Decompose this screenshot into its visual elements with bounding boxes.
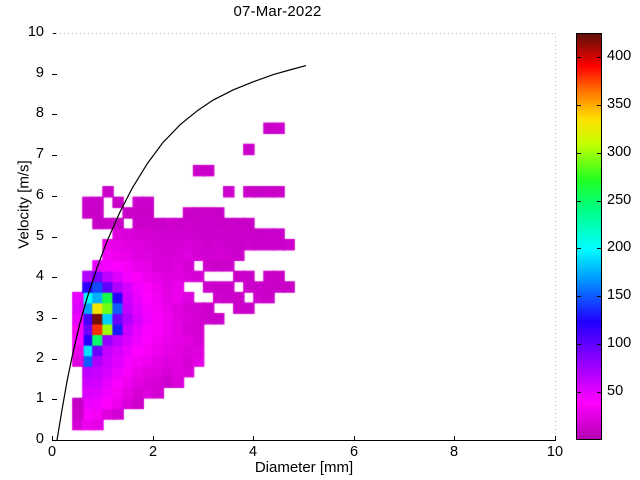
y-axis-label: Velocity [m/s]	[16, 125, 33, 285]
y-tick-2	[52, 359, 57, 360]
x-tick-0	[52, 436, 53, 441]
x-tick-2	[153, 436, 154, 441]
colorbar-tick-300	[576, 153, 581, 154]
colorbar-border	[576, 33, 602, 440]
y-tick-label-3: 3	[4, 309, 44, 325]
colorbar-tick-right-250	[597, 201, 602, 202]
x-tick-label-0: 0	[32, 444, 72, 460]
colorbar-tick-250	[576, 201, 581, 202]
colorbar-tick-right-400	[597, 57, 602, 58]
colorbar-tick-right-200	[597, 248, 602, 249]
x-axis-line	[52, 440, 556, 441]
chart-title: 07-Mar-2022	[0, 3, 555, 20]
x-tick-10	[555, 436, 556, 441]
y-tick-label-2: 2	[4, 350, 44, 366]
x-tick-label-8: 8	[434, 444, 474, 460]
colorbar-tick-50	[576, 392, 581, 393]
y-tick-1	[52, 399, 57, 400]
colorbar-tick-100	[576, 344, 581, 345]
y-tick-7	[52, 155, 57, 156]
x-tick-8	[454, 436, 455, 441]
y-tick-label-10: 10	[4, 24, 44, 40]
colorbar-tick-350	[576, 105, 581, 106]
colorbar-tick-right-100	[597, 344, 602, 345]
y-tick-label-1: 1	[4, 390, 44, 406]
colorbar-label-350: 350	[607, 96, 631, 112]
x-axis-label: Diameter [mm]	[52, 459, 556, 476]
x-tick-label-6: 6	[334, 444, 374, 460]
x-tick-label-2: 2	[133, 444, 173, 460]
plot-area[interactable]	[52, 33, 555, 440]
y-tick-3	[52, 318, 57, 319]
colorbar-label-50: 50	[607, 383, 623, 399]
colorbar-label-400: 400	[607, 48, 631, 64]
x-tick-6	[354, 436, 355, 441]
y-tick-4	[52, 277, 57, 278]
x-tick-label-4: 4	[233, 444, 273, 460]
colorbar-tick-200	[576, 248, 581, 249]
y-tick-6	[52, 196, 57, 197]
figure-root: 07-Mar-2022 012345678910 0246810 Velocit…	[0, 0, 640, 480]
colorbar-label-150: 150	[607, 287, 631, 303]
y-tick-label-9: 9	[4, 65, 44, 81]
colorbar-tick-right-50	[597, 392, 602, 393]
colorbar-tick-right-350	[597, 105, 602, 106]
colorbar-label-300: 300	[607, 144, 631, 160]
colorbar-label-250: 250	[607, 192, 631, 208]
right-gridline	[555, 33, 556, 440]
colorbar-tick-right-300	[597, 153, 602, 154]
terminal-velocity-curve	[52, 33, 555, 440]
colorbar-label-200: 200	[607, 239, 631, 255]
colorbar-tick-400	[576, 57, 581, 58]
colorbar-label-100: 100	[607, 335, 631, 351]
x-tick-4	[253, 436, 254, 441]
colorbar-tick-right-150	[597, 296, 602, 297]
y-tick-9	[52, 74, 57, 75]
y-tick-5	[52, 237, 57, 238]
y-tick-label-8: 8	[4, 105, 44, 121]
x-tick-label-10: 10	[535, 444, 575, 460]
y-tick-8	[52, 114, 57, 115]
colorbar[interactable]	[576, 33, 602, 440]
top-gridline	[52, 33, 555, 34]
colorbar-tick-150	[576, 296, 581, 297]
